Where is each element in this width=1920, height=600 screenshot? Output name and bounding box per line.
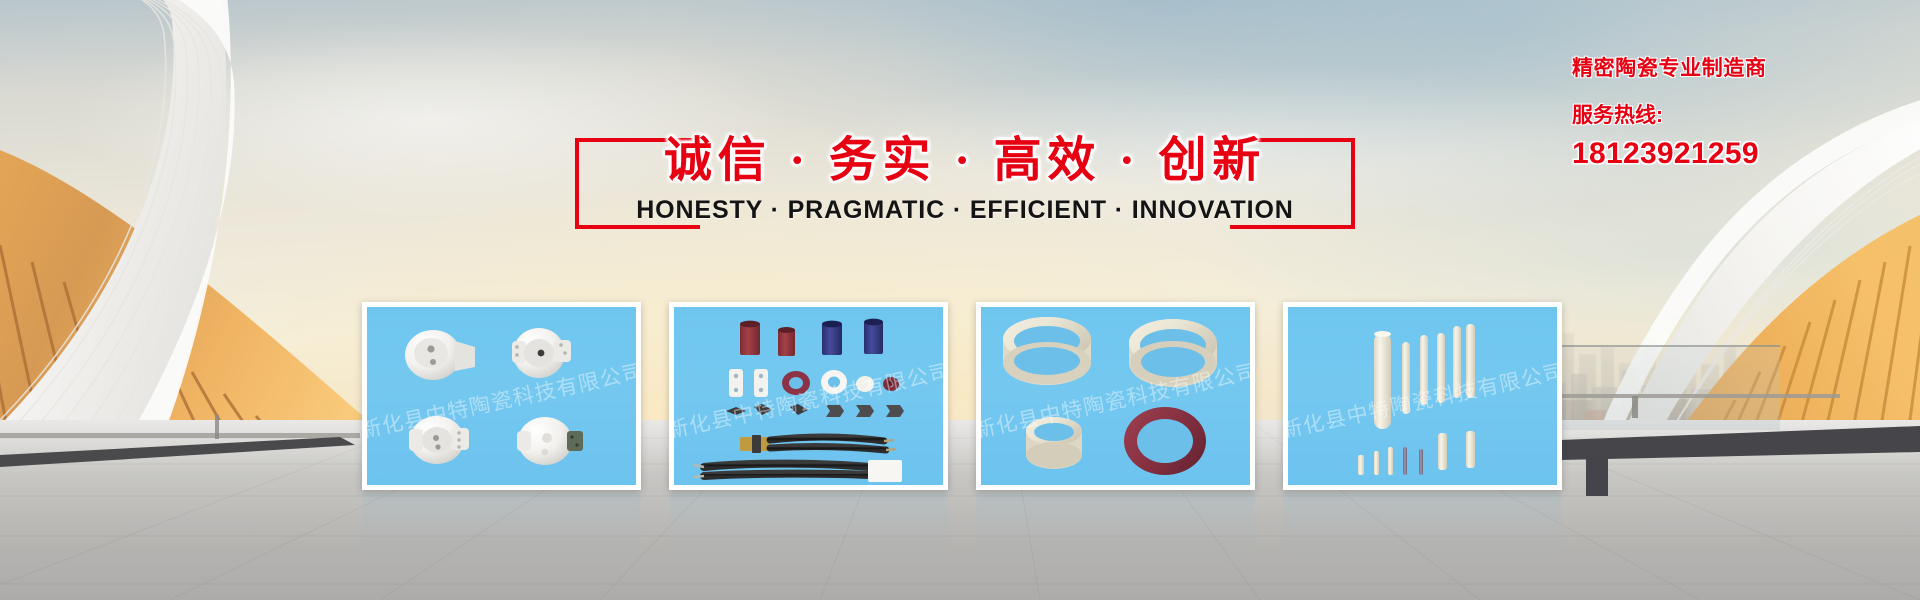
slogan-english: HONESTY · PRAGMATIC · EFFICIENT · INNOVA… [575, 196, 1355, 225]
panel-reflection-2 [669, 492, 948, 578]
railing-right [1540, 390, 1920, 500]
product-panel-4[interactable]: 新化县中特陶瓷科技有限公司 [1283, 302, 1562, 490]
product-panel-3[interactable]: 新化县中特陶瓷科技有限公司 [976, 302, 1255, 490]
maroon-ceramic-ring-large [1124, 407, 1206, 475]
ceramic-lamp-holder-1 [405, 330, 475, 380]
company-tagline: 精密陶瓷专业制造商 [1572, 52, 1902, 82]
ceramic-lamp-holder-3 [409, 416, 469, 464]
cream-ceramic-ring-large-1 [1003, 317, 1091, 385]
ceramic-lamp-holder-2 [512, 328, 571, 378]
contact-block: 精密陶瓷专业制造商 服务热线: 18123921259 [1572, 52, 1902, 171]
wire-harness-white [694, 460, 902, 482]
product-panel-2[interactable]: 新化县中特陶瓷科技有限公司 [669, 302, 948, 490]
bracket-left-bottom [575, 225, 700, 229]
product-gallery: 新化县中特陶瓷科技有限公司 [362, 302, 1562, 490]
product-panel-3-image: 新化县中特陶瓷科技有限公司 [981, 307, 1250, 485]
cream-ceramic-ring-small [1026, 417, 1082, 469]
hero-banner: 诚信 · 务实 · 高效 · 创新 HONESTY · PRAGMATIC · … [0, 0, 1920, 600]
panel-reflections [362, 492, 1562, 578]
metal-clips-row [726, 404, 904, 417]
ceramic-tubes-row [740, 319, 883, 356]
hotline-label: 服务热线: [1572, 99, 1902, 129]
panel-reflection-1 [362, 492, 641, 578]
ceramic-plates-rings [729, 369, 899, 397]
panel-reflection-4 [1283, 492, 1562, 578]
panel-reflection-3 [976, 492, 1255, 578]
ceramic-pins-row [1358, 447, 1423, 475]
product-panel-1[interactable]: 新化县中特陶瓷科技有限公司 [362, 302, 641, 490]
product-panel-2-image: 新化县中特陶瓷科技有限公司 [674, 307, 943, 485]
slogan-block: 诚信 · 务实 · 高效 · 创新 HONESTY · PRAGMATIC · … [575, 110, 1355, 240]
ceramic-rods-row [1402, 324, 1475, 414]
ceramic-rod-thick [1374, 331, 1391, 429]
cream-ceramic-ring-large-2 [1129, 319, 1217, 387]
wire-harness-gold [740, 435, 896, 453]
ceramic-tubes-short [1438, 431, 1475, 470]
bracket-right-bottom [1230, 225, 1355, 229]
ceramic-lamp-holder-4 [517, 417, 583, 465]
slogan-chinese: 诚信 · 务实 · 高效 · 创新 [575, 120, 1355, 190]
product-panel-1-image: 新化县中特陶瓷科技有限公司 [367, 307, 636, 485]
hotline-number[interactable]: 18123921259 [1572, 137, 1902, 171]
railing-left [0, 415, 360, 485]
product-panel-4-image: 新化县中特陶瓷科技有限公司 [1288, 307, 1557, 485]
